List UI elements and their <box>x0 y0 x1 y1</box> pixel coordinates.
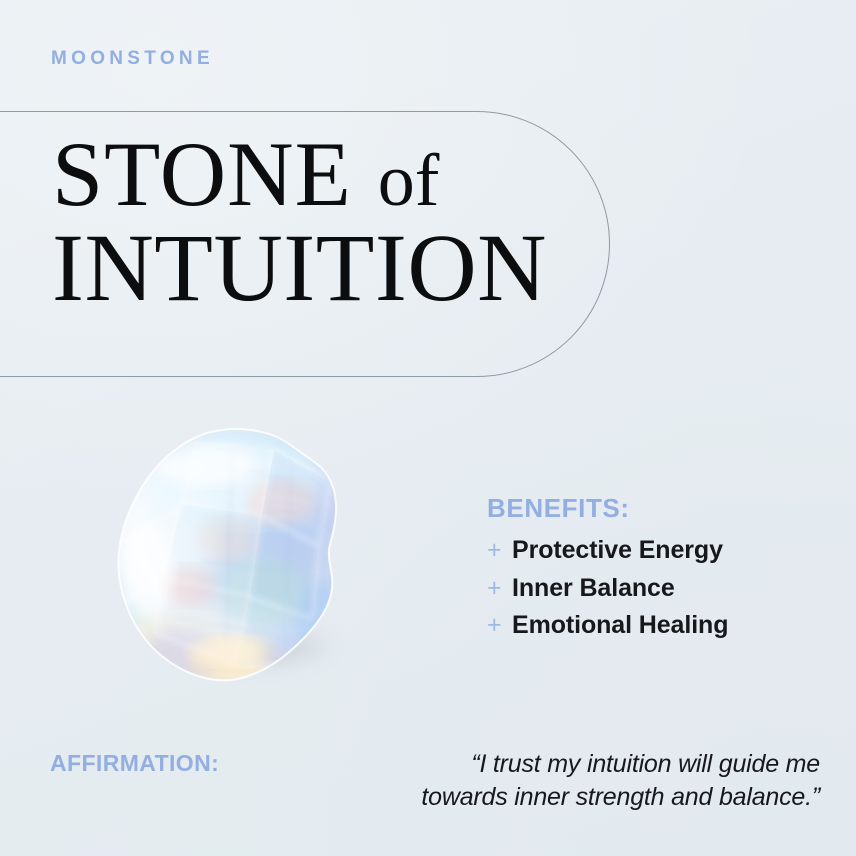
plus-icon: + <box>487 611 512 641</box>
benefit-label: Inner Balance <box>512 574 675 604</box>
headline-word-of: of <box>352 140 440 222</box>
page-title: STONEof INTUITION <box>52 130 652 314</box>
headline-word-stone: STONE <box>52 123 352 225</box>
plus-icon: + <box>487 536 512 566</box>
benefit-item: + Emotional Healing <box>487 611 817 641</box>
benefits-section: BENEFITS: + Protective Energy + Inner Ba… <box>487 495 817 649</box>
moonstone-image <box>86 420 386 720</box>
benefit-label: Emotional Healing <box>512 611 728 641</box>
headline-line-1: STONEof <box>52 130 652 219</box>
benefits-title: BENEFITS: <box>487 495 817 521</box>
moonstone-crystal-icon <box>86 420 386 720</box>
moonstone-poster: MOONSTONE STONEof INTUITION <box>0 0 856 856</box>
plus-icon: + <box>487 574 512 604</box>
benefit-label: Protective Energy <box>512 536 723 566</box>
affirmation-quote-line-2: towards inner strength and balance.” <box>50 781 820 814</box>
benefit-item: + Protective Energy <box>487 536 817 566</box>
headline-line-2: INTUITION <box>52 221 652 314</box>
affirmation-section: AFFIRMATION: “I trust my intuition will … <box>50 748 820 814</box>
eyebrow-label: MOONSTONE <box>51 49 214 68</box>
affirmation-label: AFFIRMATION: <box>50 748 219 775</box>
benefit-item: + Inner Balance <box>487 574 817 604</box>
